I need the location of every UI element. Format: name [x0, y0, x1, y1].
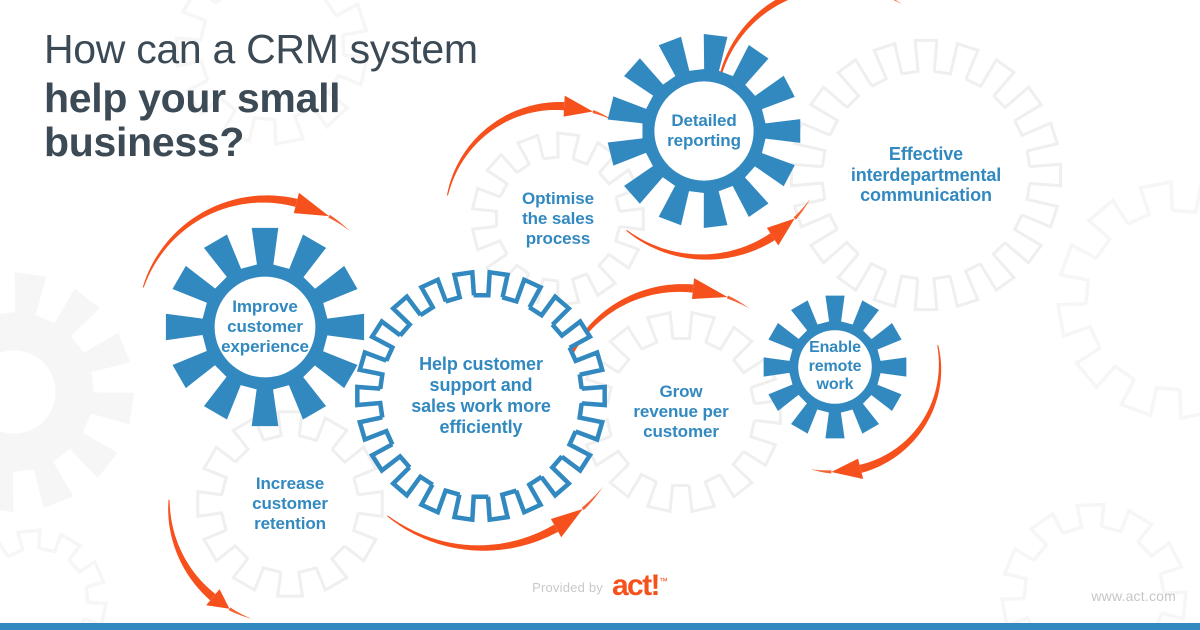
- gear-effective-interdepartmental-communication[interactable]: [791, 40, 1060, 309]
- footer-branding: Provided by act!™: [0, 572, 1200, 602]
- site-url[interactable]: www.act.com: [1091, 588, 1176, 604]
- gear-detailed-reporting[interactable]: [608, 34, 801, 228]
- title-line-2: help your small: [44, 77, 604, 120]
- watermark-bottom-right-watermark-icon: [1002, 505, 1186, 630]
- gear-grow-revenue-per-customer[interactable]: [582, 313, 781, 512]
- watermark-right-edge-watermark-icon: [1058, 182, 1200, 418]
- gear-increase-customer-retention[interactable]: [198, 412, 382, 596]
- trademark-icon: ™: [659, 576, 668, 586]
- act-logo: act!™: [612, 571, 668, 601]
- gear-improve-customer-experience[interactable]: [166, 228, 364, 426]
- title-line-1: How can a CRM system: [44, 28, 604, 71]
- bottom-accent-bar: [0, 623, 1200, 630]
- title-line-3: business?: [44, 121, 604, 164]
- page-title: How can a CRM system help your small bus…: [44, 28, 604, 164]
- act-logo-text: act!: [612, 569, 659, 602]
- provided-by-text: Provided by: [532, 580, 603, 595]
- gear-enable-remote-work[interactable]: [764, 296, 907, 439]
- gear-help-customer-support[interactable]: [357, 272, 604, 519]
- infographic-canvas: How can a CRM system help your small bus…: [0, 0, 1200, 630]
- watermark-left-edge-watermark-icon: [0, 272, 134, 512]
